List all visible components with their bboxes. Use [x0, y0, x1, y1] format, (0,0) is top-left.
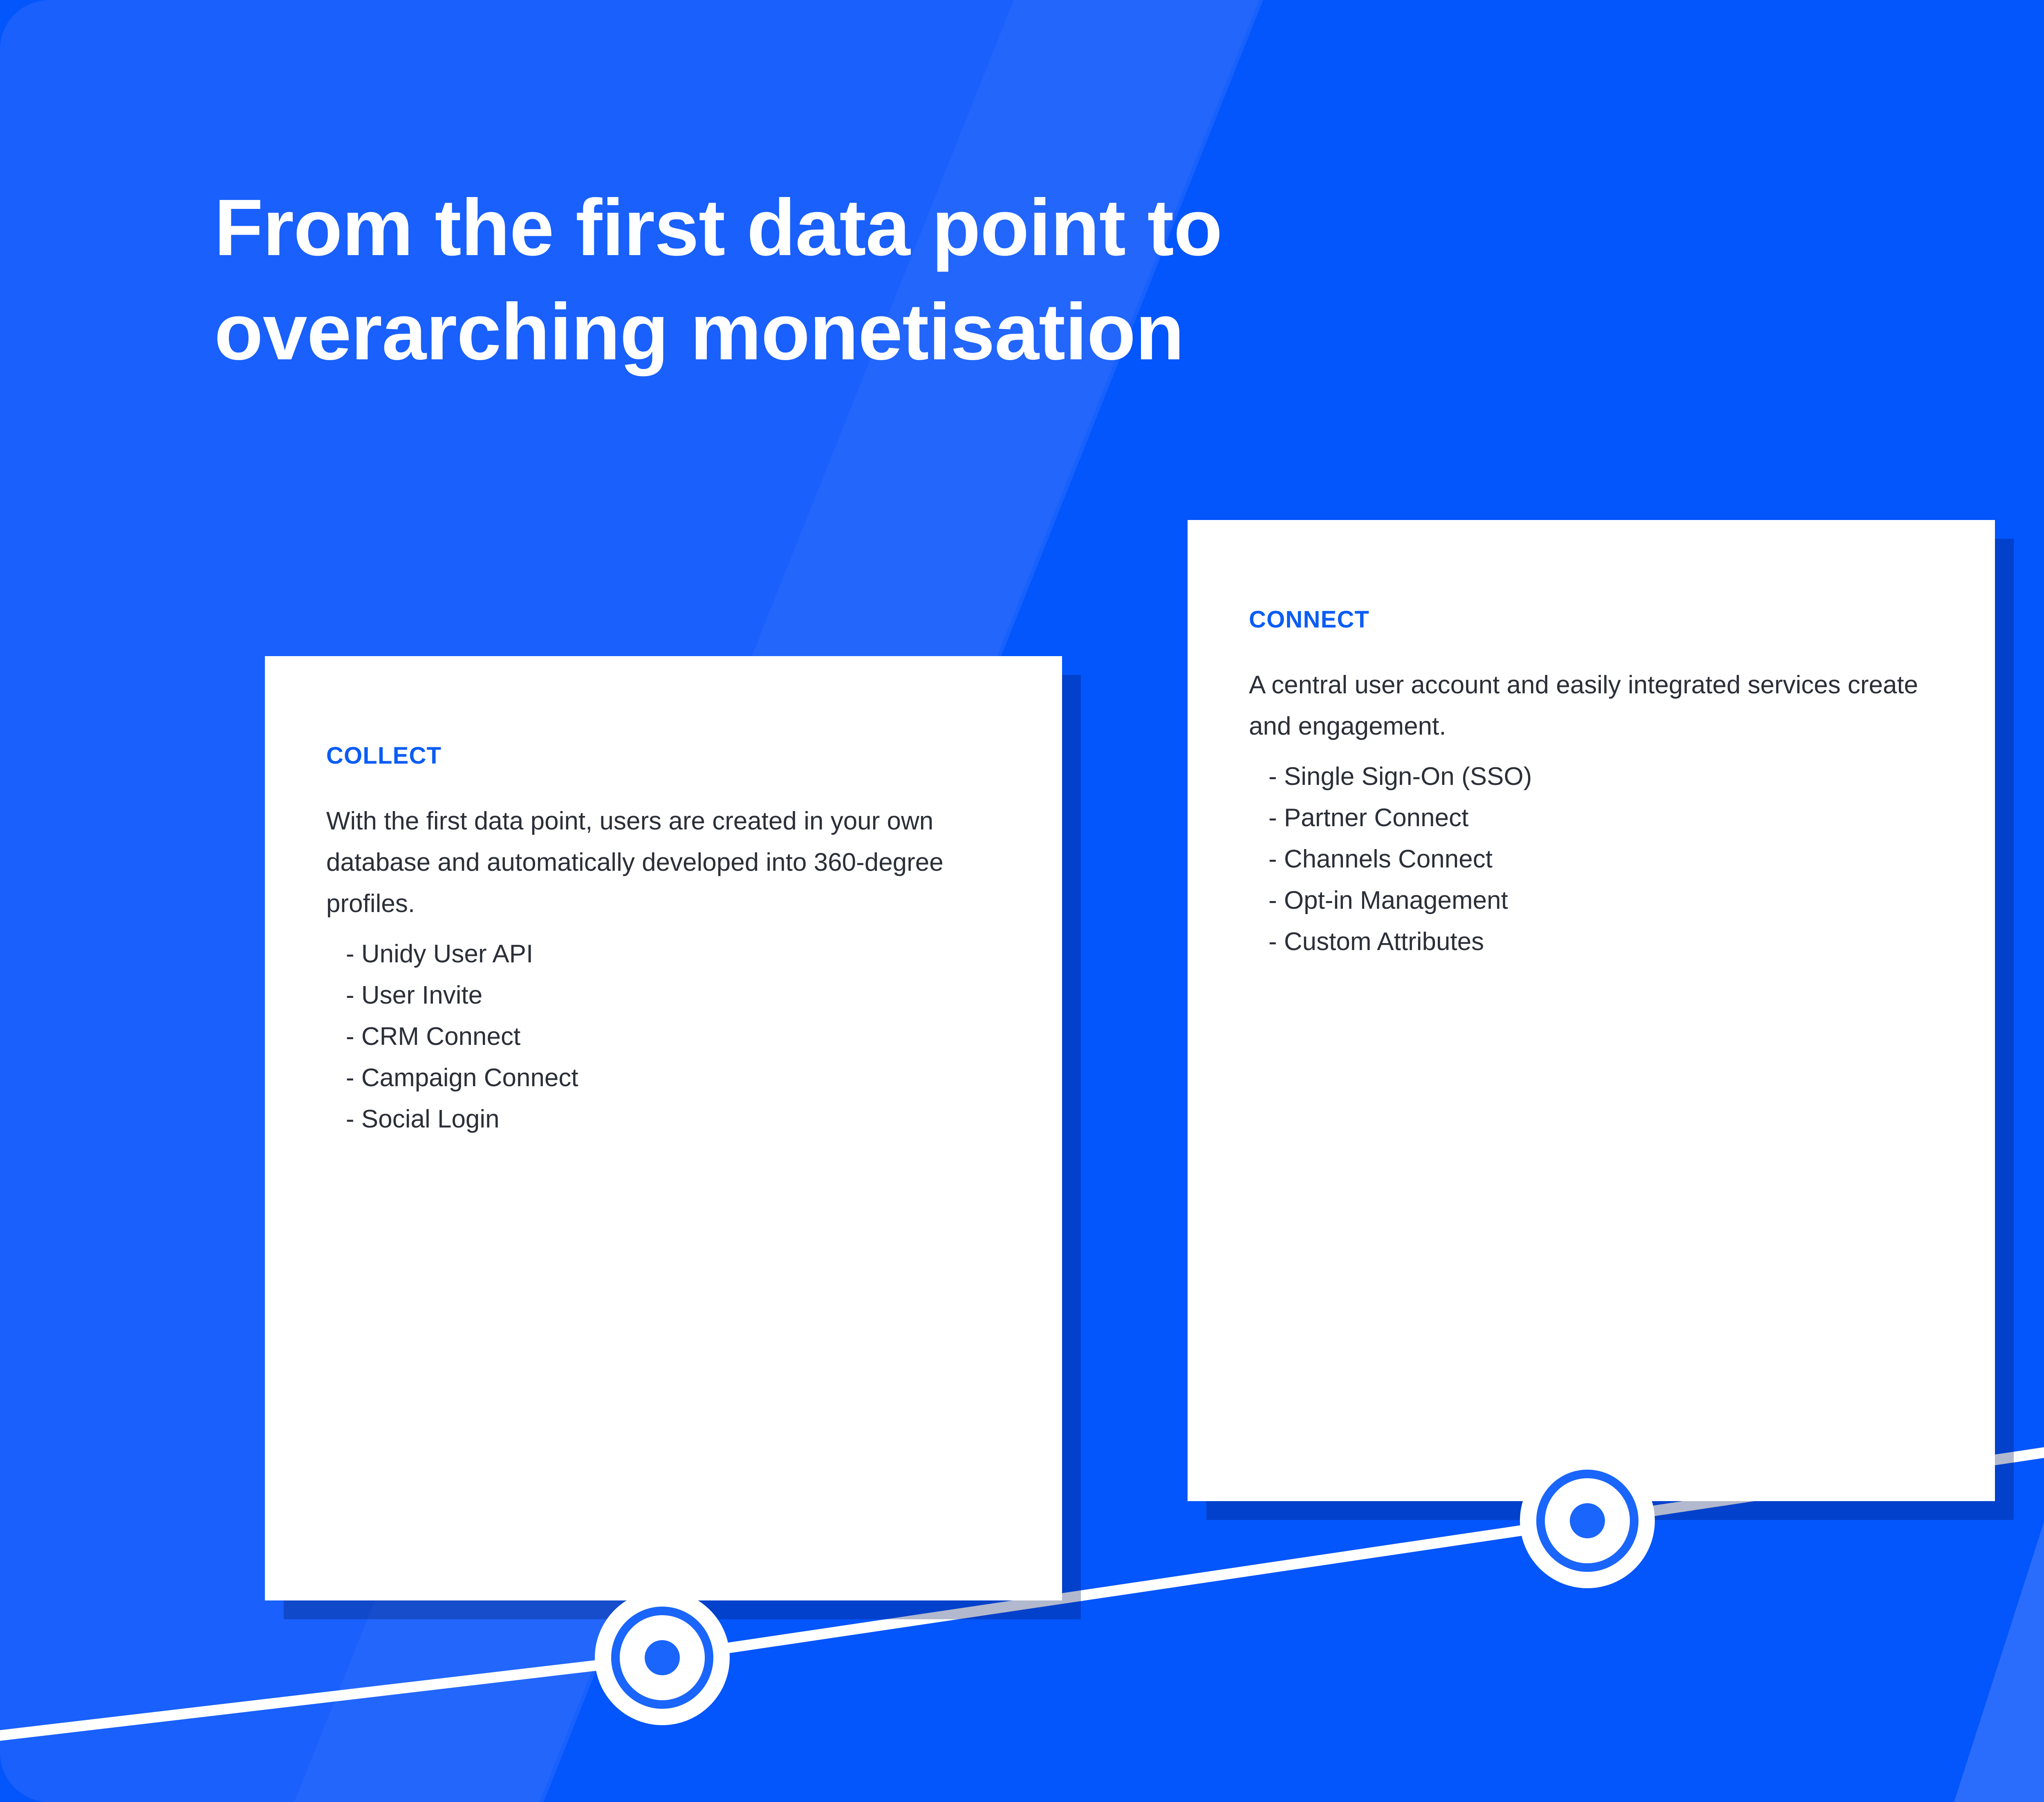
stage-card-connect[interactable]: CONNECT A central user account and easil…	[1188, 520, 1995, 1501]
node-dot-icon	[1570, 1503, 1605, 1538]
card-body-connect: A central user account and easily integr…	[1249, 664, 1946, 747]
list-item: - User Invite	[346, 975, 1013, 1016]
list-item: - Campaign Connect	[346, 1057, 1013, 1098]
node-ring-icon	[611, 1607, 713, 1709]
list-item: - Unidy User API	[346, 933, 1013, 975]
list-item: - Custom Attributes	[1269, 921, 1946, 962]
stage-card-collect[interactable]: COLLECT With the first data point, users…	[265, 656, 1062, 1600]
card-kicker-collect: COLLECT	[326, 744, 1013, 768]
node-dot-icon	[645, 1640, 680, 1675]
card-content-connect: CONNECT A central user account and easil…	[1188, 520, 1995, 962]
timeline-node-collect-icon[interactable]	[595, 1590, 730, 1725]
slide-canvas: From the first data point to overarching…	[0, 0, 2044, 1802]
card-feature-list-collect: - Unidy User API - User Invite - CRM Con…	[326, 933, 1013, 1140]
list-item: - Single Sign-On (SSO)	[1269, 756, 1946, 797]
card-body-collect: With the first data point, users are cre…	[326, 800, 1013, 924]
list-item: - Opt-in Management	[1269, 880, 1946, 921]
list-item: - CRM Connect	[346, 1016, 1013, 1057]
list-item: - Social Login	[346, 1098, 1013, 1140]
card-feature-list-connect: - Single Sign-On (SSO) - Partner Connect…	[1249, 756, 1946, 962]
card-content-collect: COLLECT With the first data point, users…	[265, 656, 1062, 1140]
node-ring-icon	[1536, 1470, 1638, 1572]
list-item: - Partner Connect	[1269, 797, 1946, 838]
timeline-node-connect-icon[interactable]	[1520, 1453, 1655, 1588]
card-kicker-connect: CONNECT	[1249, 608, 1946, 632]
list-item: - Channels Connect	[1269, 838, 1946, 880]
